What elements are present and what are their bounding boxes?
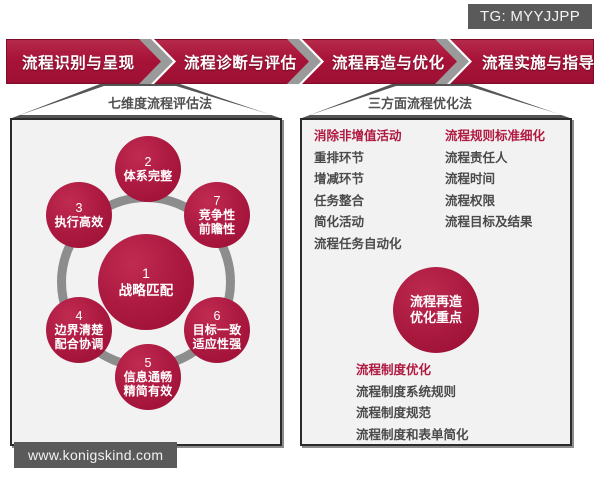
wheel-node-7-text: 竞争性 前瞻性: [199, 209, 236, 236]
chevron-shadow-3: [435, 39, 469, 84]
wheel-node-center[interactable]: 1 战略匹配: [98, 234, 194, 330]
optimization-focus-circle[interactable]: 流程再造 优化重点: [393, 267, 479, 353]
wheel-node-6[interactable]: 6 目标一致 适应性强: [184, 297, 250, 363]
wheel-node-2-num: 2: [145, 155, 152, 169]
process-step-3-label: 流程再造与优化: [332, 51, 445, 73]
group-right-item-0[interactable]: 流程责任人: [445, 152, 562, 165]
optimization-group-left: 消除非增值活动 重排环节 增减环节 任务整合 简化活动 流程任务自动化: [314, 130, 431, 259]
process-step-2-label: 流程诊断与评估: [184, 51, 297, 73]
chevron-shadow-2: [287, 39, 321, 84]
three-aspect-content: 消除非增值活动 重排环节 增减环节 任务整合 简化活动 流程任务自动化 流程规则…: [302, 120, 570, 444]
wheel-node-7-num: 7: [214, 194, 221, 208]
callout-connectors: 七维度流程评估法 三方面流程优化法: [0, 84, 600, 120]
watermark-website: www.konigskind.com: [14, 442, 177, 468]
group-bottom-item-1[interactable]: 流程制度规范: [356, 407, 469, 420]
group-right-item-1[interactable]: 流程时间: [445, 173, 562, 186]
process-band: 流程识别与呈现 流程诊断与评估 流程再造与优化 流程实施与指导: [6, 39, 594, 84]
wheel-node-4-num: 4: [76, 309, 83, 323]
group-left-item-3[interactable]: 简化活动: [314, 216, 431, 229]
chevron-shadow-1: [139, 39, 173, 84]
group-left-item-2[interactable]: 任务整合: [314, 195, 431, 208]
optimization-group-bottom: 流程制度优化 流程制度系统规则 流程制度规范 流程制度和表单简化: [356, 364, 469, 450]
wheel-node-2[interactable]: 2 体系完整: [115, 136, 181, 202]
wheel-node-center-num: 1: [142, 266, 150, 282]
group-right-item-2[interactable]: 流程权限: [445, 195, 562, 208]
wheel-node-5-num: 5: [145, 356, 152, 370]
process-step-4-label: 流程实施与指导: [482, 51, 595, 73]
seven-dimension-wheel: 1 战略匹配 2 体系完整 7 竞争性 前瞻性 6 目标一致 适应性强 5 信息…: [12, 120, 280, 444]
left-panel-seven-dimensions: 1 战略匹配 2 体系完整 7 竞争性 前瞻性 6 目标一致 适应性强 5 信息…: [10, 118, 282, 446]
wheel-node-4-text: 边界清楚 配合协调: [55, 324, 104, 351]
wheel-node-2-text: 体系完整: [124, 170, 173, 183]
group-right-item-3[interactable]: 流程目标及结果: [445, 216, 562, 229]
optimization-group-right: 流程规则标准细化 流程责任人 流程时间 流程权限 流程目标及结果: [431, 130, 562, 259]
wheel-node-4[interactable]: 4 边界清楚 配合协调: [46, 297, 112, 363]
wheel-node-6-text: 目标一致 适应性强: [193, 324, 242, 351]
wheel-node-center-text: 战略匹配: [119, 283, 174, 298]
wheel-node-5[interactable]: 5 信息通畅 精简有效: [115, 344, 181, 410]
process-step-1-label: 流程识别与呈现: [22, 51, 135, 73]
wheel-node-3[interactable]: 3 执行高效: [46, 182, 112, 248]
group-bottom-item-2[interactable]: 流程制度和表单简化: [356, 429, 469, 442]
group-left-item-4[interactable]: 流程任务自动化: [314, 238, 431, 251]
group-left-item-0[interactable]: 重排环节: [314, 152, 431, 165]
group-right-heading: 流程规则标准细化: [445, 130, 562, 143]
callout-label-left: 七维度流程评估法: [108, 93, 212, 112]
callout-label-right: 三方面流程优化法: [368, 93, 472, 112]
right-panel-three-aspects: 消除非增值活动 重排环节 增减环节 任务整合 简化活动 流程任务自动化 流程规则…: [300, 118, 572, 446]
group-bottom-heading: 流程制度优化: [356, 364, 469, 377]
process-step-4[interactable]: 流程实施与指导: [450, 39, 594, 84]
wheel-node-5-text: 信息通畅 精简有效: [124, 371, 173, 398]
watermark-telegram: TG: MYYJJPP: [468, 4, 592, 29]
group-bottom-item-0[interactable]: 流程制度系统规则: [356, 386, 469, 399]
optimization-columns: 消除非增值活动 重排环节 增减环节 任务整合 简化活动 流程任务自动化 流程规则…: [302, 130, 570, 259]
wheel-node-7[interactable]: 7 竞争性 前瞻性: [184, 182, 250, 248]
group-left-heading: 消除非增值活动: [314, 130, 431, 143]
wheel-node-3-text: 执行高效: [55, 216, 104, 229]
group-left-item-1[interactable]: 增减环节: [314, 173, 431, 186]
wheel-node-6-num: 6: [214, 309, 221, 323]
wheel-node-3-num: 3: [76, 201, 83, 215]
